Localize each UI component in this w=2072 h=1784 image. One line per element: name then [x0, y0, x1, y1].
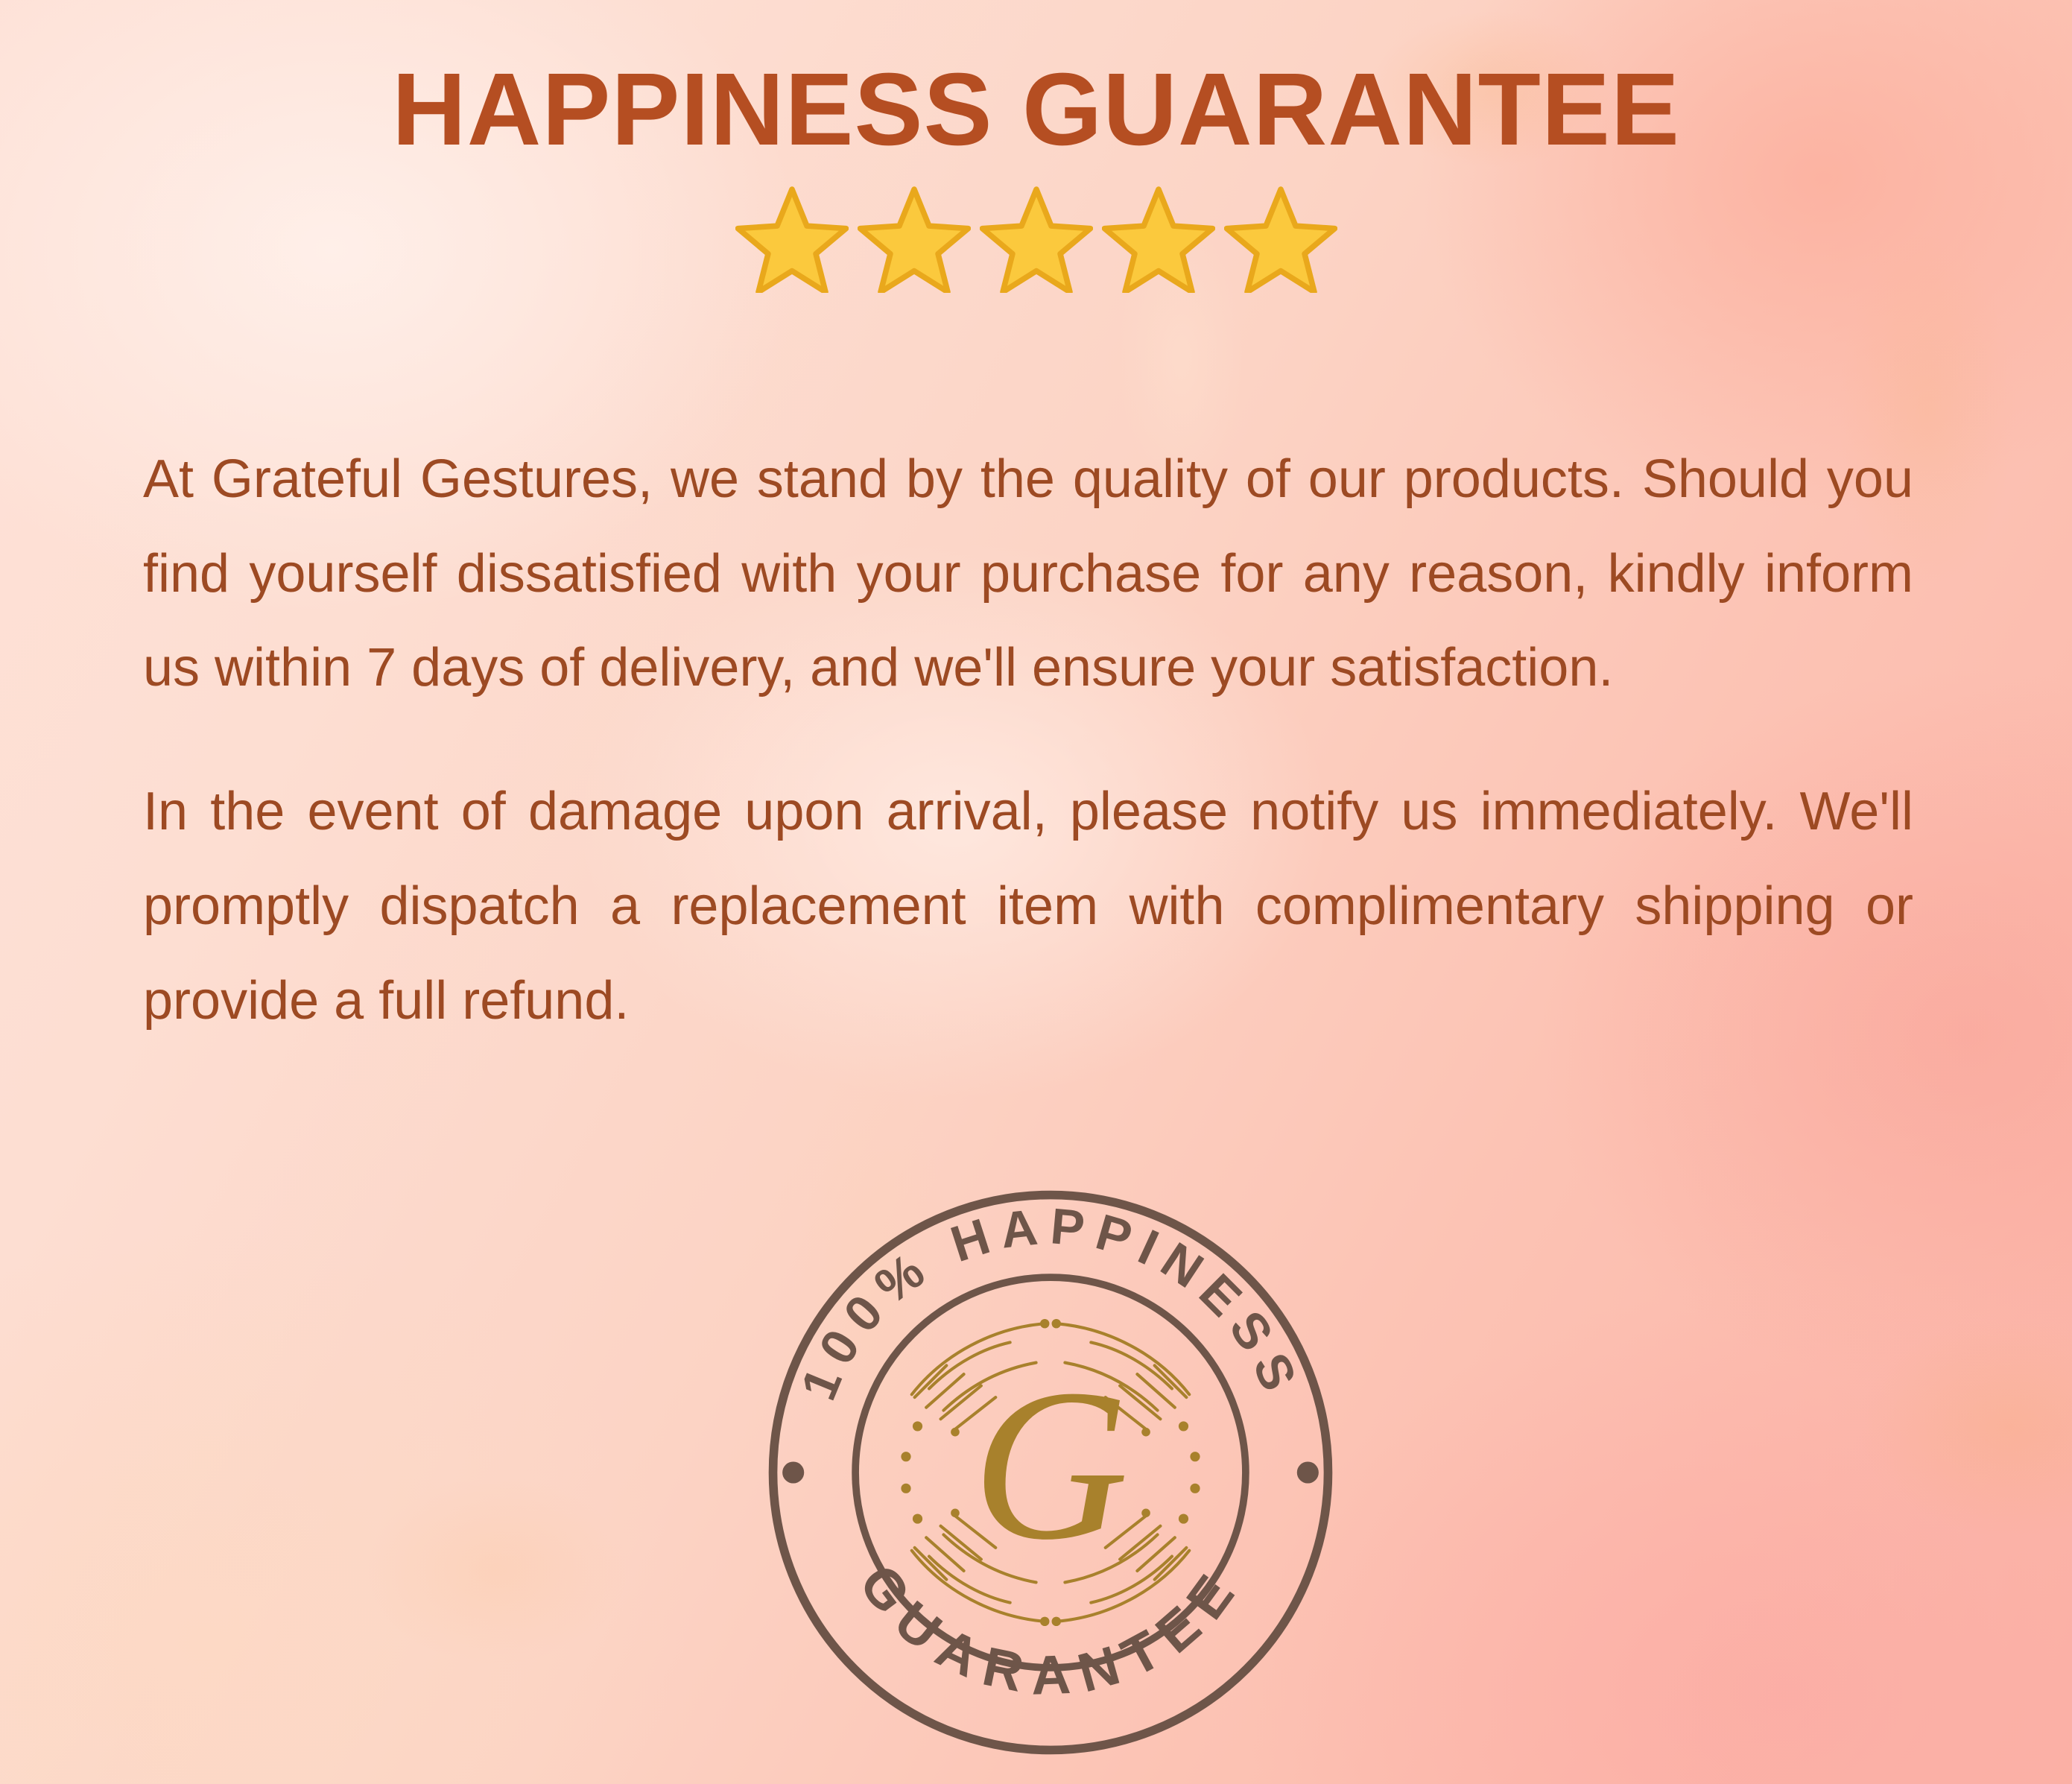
brand-monogram: G	[972, 1344, 1129, 1584]
badge-dot-right	[1297, 1461, 1319, 1483]
star-rating	[0, 185, 2072, 293]
star-icon	[735, 185, 849, 293]
star-icon	[980, 185, 1093, 293]
guarantee-card: HAPPINESS GUARANTEE At Grateful Gestures…	[0, 0, 2072, 1784]
policy-body: At Grateful Gestures, we stand by the qu…	[143, 432, 1913, 1048]
guarantee-badge: 100% HAPPINESS GUARANTEE	[761, 1183, 1340, 1762]
policy-paragraph-damage: In the event of damage upon arrival, ple…	[143, 765, 1913, 1048]
page-title: HAPPINESS GUARANTEE	[0, 58, 2072, 161]
policy-paragraph-satisfaction: At Grateful Gestures, we stand by the qu…	[143, 432, 1913, 715]
star-icon	[1224, 185, 1337, 293]
star-icon	[858, 185, 971, 293]
badge-dot-left	[782, 1461, 804, 1483]
star-icon	[1102, 185, 1215, 293]
